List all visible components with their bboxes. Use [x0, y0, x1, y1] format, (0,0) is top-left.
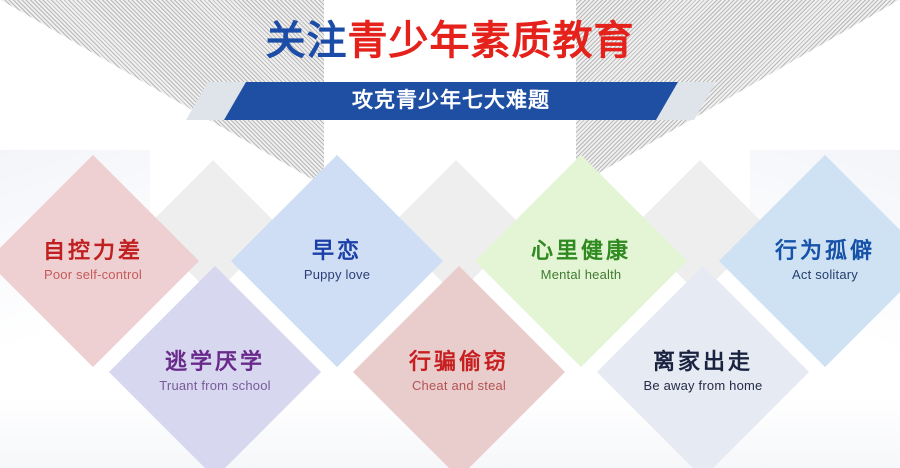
- diamond-label-zh: 逃学厌学: [165, 349, 265, 375]
- diamond-label-en: Mental health: [541, 266, 622, 284]
- diamond-label-en: Be away from home: [643, 377, 762, 395]
- diamond-label-en: Puppy love: [304, 266, 370, 284]
- diamond-label-zh: 心里健康: [531, 238, 631, 264]
- page-title-primary: 关注: [266, 19, 348, 63]
- banner-label: 攻克青少年七大难题: [186, 82, 716, 120]
- page-title-secondary: 青少年素质教育: [348, 19, 635, 63]
- diamond-label-zh: 早恋: [312, 238, 362, 264]
- diamond-label-zh: 自控力差: [43, 238, 143, 264]
- poster-canvas: 关注青少年素质教育 攻克青少年七大难题 自控力差Poor self-contro…: [0, 0, 900, 468]
- diamond-label-zh: 行骗偷窃: [409, 349, 509, 375]
- subtitle-banner: 攻克青少年七大难题: [186, 82, 716, 120]
- page-title: 关注青少年素质教育: [0, 16, 900, 66]
- diamond-content: 行为孤僻Act solitary: [750, 186, 900, 336]
- diamond-label-zh: 行为孤僻: [775, 238, 875, 264]
- diamond-label-zh: 离家出走: [653, 349, 753, 375]
- diamond-label-en: Poor self-control: [44, 266, 142, 284]
- diamond-label-en: Act solitary: [792, 266, 858, 284]
- diamond-label-en: Cheat and steal: [412, 377, 506, 395]
- diamond-label-en: Truant from school: [159, 377, 271, 395]
- poster-header: 关注青少年素质教育 攻克青少年七大难题: [0, 0, 900, 140]
